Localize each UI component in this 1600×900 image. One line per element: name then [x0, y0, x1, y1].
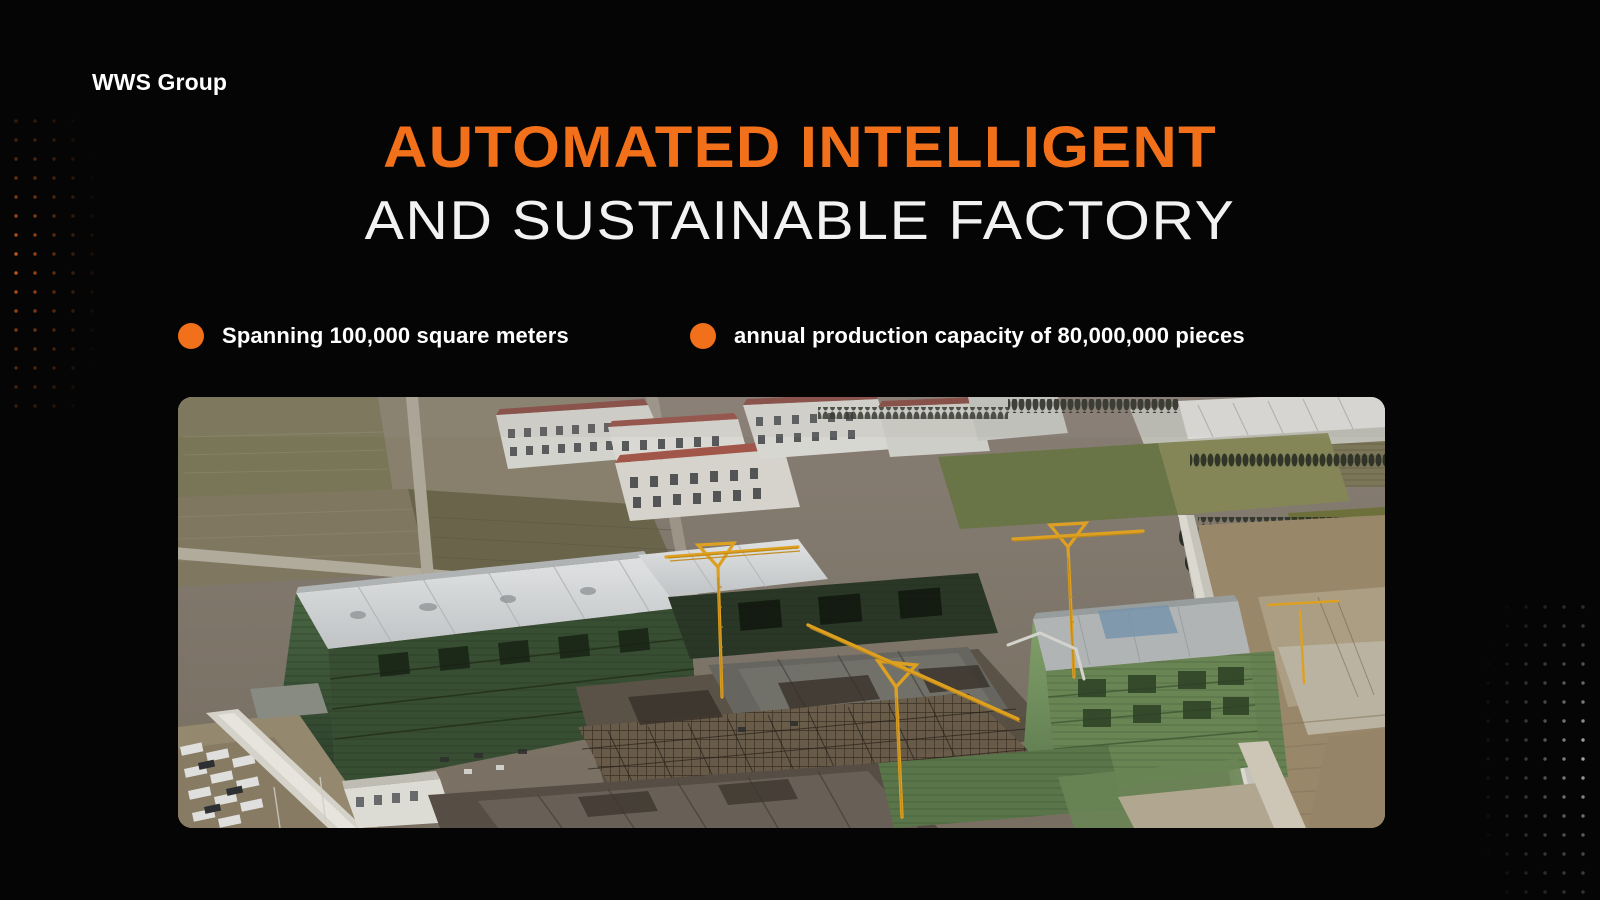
- presentation-slide: WWS Group AUTOMATED INTELLIGENT AND SUST…: [0, 0, 1600, 900]
- stat-bullet-item: annual production capacity of 80,000,000…: [690, 316, 1245, 356]
- dot-grid-right-icon: [1454, 598, 1600, 898]
- stat-bullet-label: Spanning 100,000 square meters: [222, 323, 569, 349]
- stat-bullet-list: Spanning 100,000 square meters annual pr…: [178, 316, 1378, 360]
- slide-headline: AUTOMATED INTELLIGENT AND SUSTAINABLE FA…: [0, 118, 1600, 248]
- headline-line-2: AND SUSTAINABLE FACTORY: [0, 192, 1600, 248]
- bullet-dot-icon: [178, 323, 204, 349]
- bullet-dot-icon: [690, 323, 716, 349]
- stat-bullet-item: Spanning 100,000 square meters: [178, 316, 569, 356]
- factory-aerial-photo: [178, 397, 1385, 828]
- brand-logo-text: WWS Group: [92, 71, 227, 94]
- headline-line-1: AUTOMATED INTELLIGENT: [0, 118, 1600, 177]
- stat-bullet-label: annual production capacity of 80,000,000…: [734, 323, 1245, 349]
